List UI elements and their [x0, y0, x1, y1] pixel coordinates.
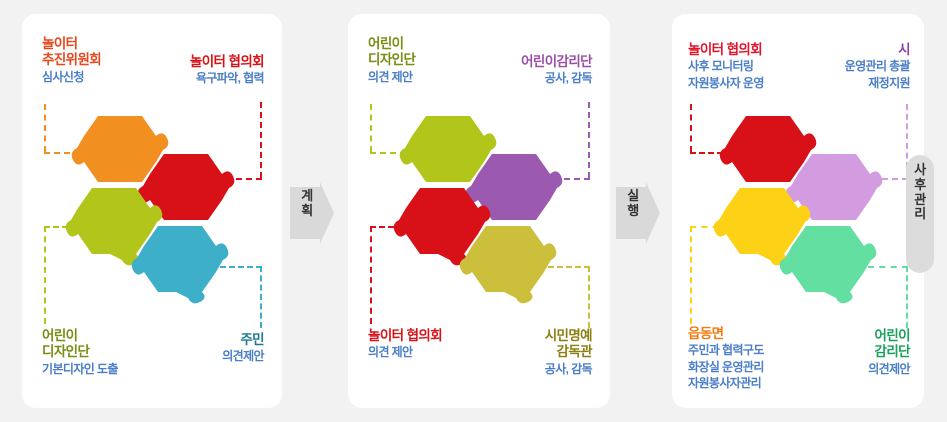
connector-line-vertical — [260, 266, 262, 328]
connector-line-horizontal — [370, 226, 412, 228]
callout-title-line1: 어린이 — [368, 36, 415, 52]
diagram-canvas: 놀이터 추진위원회 심사신청 놀이터 협의회 욕구파악, 협력 — [0, 0, 947, 422]
callout-sub-1: 의견제안 — [222, 349, 264, 364]
puzzle-cluster — [62, 110, 242, 325]
post-management-label-line1: 사 — [906, 163, 934, 178]
callout-sub-1: 심사신청 — [42, 70, 101, 85]
connector-line-vertical — [690, 104, 692, 152]
callout-city: 시 운영관리 총괄 재정지원 — [845, 42, 910, 91]
puzzle-piece-bottom-right — [456, 220, 560, 324]
post-management-pill: 사 후 관 리 — [906, 155, 934, 273]
step-arrow-label-line1: 실 — [620, 189, 646, 204]
callout-title-line2: 추진위원회 — [42, 52, 101, 68]
connector-line-horizontal — [690, 226, 730, 228]
step-arrow-label-line2: 획 — [294, 204, 320, 219]
post-management-label-line4: 리 — [906, 207, 934, 222]
connector-line-horizontal — [44, 226, 86, 228]
callout-title-line2: 감독관 — [545, 344, 592, 360]
step-arrow-execute: 실 행 — [616, 182, 660, 244]
post-management-label-line2: 후 — [906, 178, 934, 193]
connector-line-vertical — [260, 102, 262, 178]
puzzle-cluster — [390, 110, 570, 325]
callout-playground-council: 놀이터 협의회 욕구파악, 협력 — [190, 54, 264, 87]
connector-line-vertical — [44, 226, 46, 324]
puzzle-piece-bottom-right — [776, 220, 880, 324]
callout-sub-2: 화장실 운영관리 — [688, 360, 764, 375]
callout-child-design-team: 어린이 디자인단 기본디자인 도출 — [42, 328, 118, 377]
callout-sub-1: 주민과 협력구도 — [688, 343, 764, 358]
panel-design: 어린이 디자인단 의견 제안 어린이감리단 공사, 감독 — [348, 14, 610, 408]
puzzle-piece-bottom-right — [128, 220, 232, 324]
callout-title-line1: 어린이 — [868, 328, 910, 344]
post-management-label: 사 후 관 리 — [906, 163, 934, 222]
callout-citizen-honorary-supervisor: 시민명예 감독관 공사, 감독 — [545, 328, 592, 377]
callout-title-line1: 놀이터 협의회 — [688, 42, 764, 58]
callout-title-line1: 어린이 — [42, 328, 118, 344]
callout-title-line2: 디자인단 — [368, 52, 415, 68]
callout-residents: 주민 의견제안 — [222, 332, 264, 365]
step-arrow-label: 실 행 — [620, 189, 646, 218]
callout-sub-2: 자원봉사자 운영 — [688, 76, 764, 91]
step-arrow-plan: 계 획 — [290, 182, 334, 244]
callout-sub-1: 의견 제안 — [368, 70, 415, 85]
callout-title-line1: 놀이터 — [42, 36, 101, 52]
connector-line-vertical — [690, 226, 692, 324]
panel-post-management: 놀이터 협의회 사후 모니터링 자원봉사자 운영 시 운영관리 총괄 재정지원 — [672, 14, 924, 408]
callout-sub-1: 운영관리 총괄 — [845, 59, 910, 74]
callout-sub-1: 욕구파악, 협력 — [190, 71, 264, 86]
callout-sub-1: 공사, 감독 — [545, 362, 592, 377]
callout-child-design-team: 어린이 디자인단 의견 제안 — [368, 36, 415, 85]
step-arrow-label: 계 획 — [294, 189, 320, 218]
callout-title-line1: 어린이감리단 — [521, 54, 592, 70]
connector-line-vertical — [588, 102, 590, 178]
callout-sub-3: 자원봉사자관리 — [688, 376, 764, 391]
step-arrow-label-line1: 계 — [294, 189, 320, 204]
callout-sub-2: 재정지원 — [845, 76, 910, 91]
post-management-label-line3: 관 — [906, 193, 934, 208]
callout-sub-1: 사후 모니터링 — [688, 59, 764, 74]
callout-playground-committee: 놀이터 추진위원회 심사신청 — [42, 36, 101, 85]
callout-title-line1: 놀이터 협의회 — [190, 54, 264, 70]
connector-line-vertical — [44, 104, 46, 152]
callout-title-line1: 놀이터 협의회 — [368, 328, 442, 344]
callout-sub-1: 기본디자인 도출 — [42, 362, 118, 377]
step-arrow-label-line2: 행 — [620, 204, 646, 219]
connector-line-horizontal — [548, 266, 590, 268]
callout-child-supervision-team: 어린이 감리단 의견제안 — [868, 328, 910, 377]
callout-title-line2: 디자인단 — [42, 344, 118, 360]
puzzle-cluster — [710, 110, 890, 325]
callout-sub-1: 의견제안 — [868, 362, 910, 377]
callout-title-line1: 시민명예 — [545, 328, 592, 344]
callout-title-line1: 시 — [845, 42, 910, 58]
connector-line-vertical — [370, 226, 372, 324]
callout-sub-1: 공사, 감독 — [521, 71, 592, 86]
connector-line-vertical — [906, 266, 908, 328]
callout-title-line1: 주민 — [222, 332, 264, 348]
callout-title-line1: 읍동면 — [688, 326, 764, 342]
connector-line-vertical — [588, 266, 590, 328]
callout-playground-council: 놀이터 협의회 의견 제안 — [368, 328, 442, 361]
callout-playground-council: 놀이터 협의회 사후 모니터링 자원봉사자 운영 — [688, 42, 764, 91]
callout-sub-1: 의견 제안 — [368, 345, 442, 360]
connector-line-horizontal — [220, 266, 262, 268]
callout-eup-dong-myeon: 읍동면 주민과 협력구도 화장실 운영관리 자원봉사자관리 — [688, 326, 764, 392]
connector-line-horizontal — [868, 266, 908, 268]
callout-child-supervision-team: 어린이감리단 공사, 감독 — [521, 54, 592, 87]
connector-line-vertical — [370, 104, 372, 152]
panel-planning: 놀이터 추진위원회 심사신청 놀이터 협의회 욕구파악, 협력 — [22, 14, 282, 408]
callout-title-line2: 감리단 — [868, 344, 910, 360]
